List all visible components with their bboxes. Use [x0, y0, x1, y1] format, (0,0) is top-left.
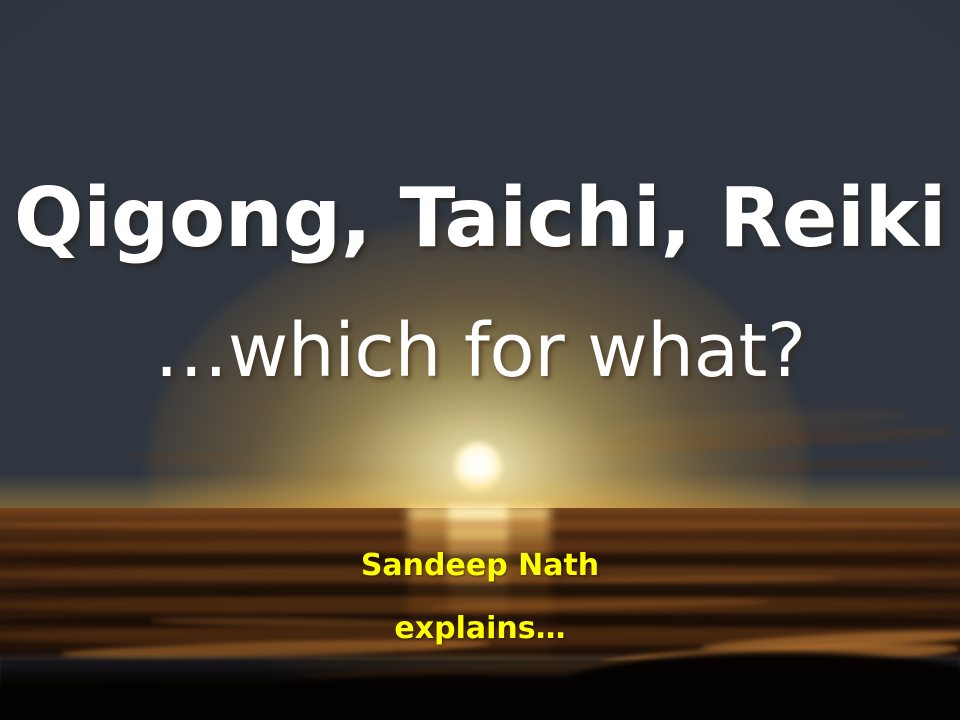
author-name: Sandeep Nath	[0, 549, 960, 582]
text-layer: Qigong, Taichi, Reiki …which for what? S…	[0, 0, 960, 720]
slide-subtitle: …which for what?	[0, 312, 960, 390]
title-slide: Qigong, Taichi, Reiki …which for what? S…	[0, 0, 960, 720]
slide-title: Qigong, Taichi, Reiki	[0, 176, 960, 263]
author-action: explains…	[0, 612, 960, 645]
